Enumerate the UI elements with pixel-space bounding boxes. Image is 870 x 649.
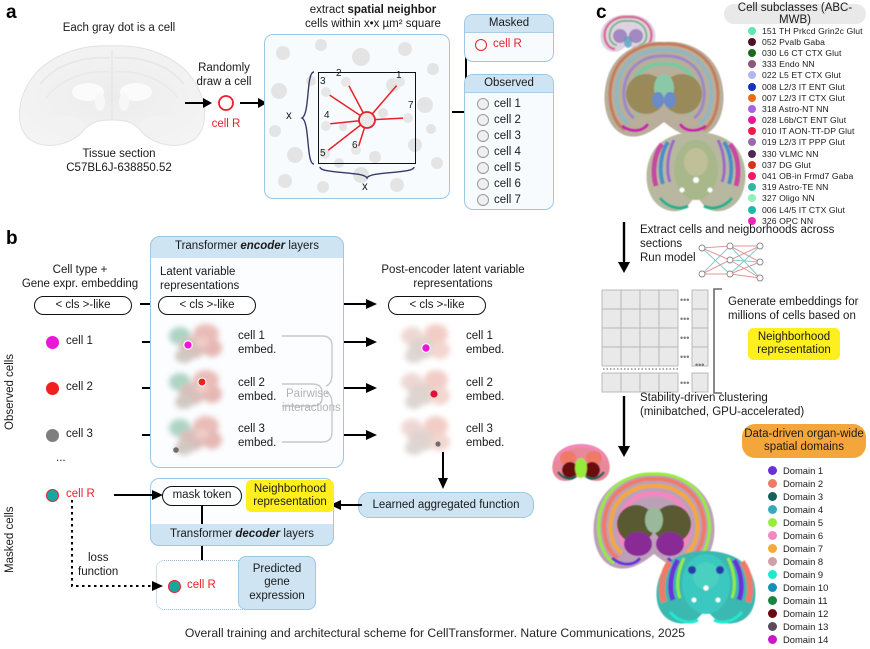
legend-item: 037 DG Glut (748, 159, 868, 170)
tissue-caption-line2: C57BL6J-638850.52 (24, 162, 214, 176)
svg-text:•••: ••• (680, 378, 689, 388)
list-item: cell 2 (477, 112, 553, 128)
observed-cell-label: cell 4 (494, 146, 521, 158)
subclass-label: 030 L6 CT CTX Glut (762, 48, 842, 58)
legend-item: Domain 10 (768, 581, 868, 594)
masked-cell-label: cell R (493, 38, 522, 52)
subclass-label: 318 Astro-NT NN (762, 104, 829, 114)
encoder-header-text: Transformer encoder layers (150, 240, 344, 254)
cell-circle-icon (477, 178, 489, 190)
subclass-label: 037 DG Glut (762, 160, 811, 170)
post-umap-2 (390, 368, 462, 412)
decoder-header-text: Transformer decoder layers (150, 528, 334, 542)
panel-a-tissue-title: Each gray dot is a cell (24, 22, 214, 36)
arrow-to-aggregated-fn (436, 452, 450, 490)
axis-label-x-bottom: x (362, 181, 368, 195)
legend-item: Domain 1 (768, 464, 868, 477)
tissue-caption-line1: Tissue section (24, 148, 214, 162)
legend-item: 030 L6 CT CTX Glut (748, 47, 868, 58)
subclass-label: 151 TH Prkcd Grin2c Glut (762, 26, 863, 36)
legend-item: 327 Oligo NN (748, 193, 868, 204)
list-item: cell 3 (477, 128, 553, 144)
observed-cell-label: cell 3 (494, 130, 521, 142)
subclass-label: 028 L6b/CT ENT Glut (762, 115, 846, 125)
legend-item: Domain 9 (768, 568, 868, 581)
subclass-label: 327 Oligo NN (762, 193, 815, 203)
domain-dot-icon (768, 596, 777, 605)
subclass-dot-icon (748, 49, 756, 57)
input-title-line2: Gene expr. embedding (2, 278, 158, 292)
draw-cell-label-line1: Randomly (186, 62, 262, 76)
brace-horizontal (318, 166, 416, 180)
subclass-label: 010 IT AON-TT-DP Glut (762, 126, 855, 136)
legend-item: 006 L4/5 IT CTX Glut (748, 204, 868, 215)
svg-text:•••: ••• (680, 333, 689, 343)
subclass-legend-title: Cell subclasses (ABC-MWB) (724, 4, 866, 24)
masked-cells-side-label: Masked cells (4, 488, 18, 592)
observed-ellipsis: ... (56, 452, 66, 466)
post-embed-3-line1: cell 3 (466, 423, 493, 437)
observed-cell-list: cell 1 cell 2 cell 3 cell 4 cell 5 cell … (465, 93, 553, 208)
post-encoder-title-line2: representations (348, 278, 558, 292)
subclass-dot-icon (748, 38, 756, 46)
predicted-cell-r-dot-icon (168, 580, 181, 593)
post-embed-1-line2: embed. (466, 344, 504, 358)
arrow-step-extract (617, 222, 631, 274)
domain-dot-icon (768, 466, 777, 475)
subclass-dot-icon (748, 138, 756, 146)
neighborhood-representation-badge-c: Neighborhood representation (748, 328, 840, 360)
neighbor-number-4: 4 (324, 110, 336, 122)
domains-legend-list: Domain 1 Domain 2 Domain 3 Domain 4 Doma… (768, 464, 868, 646)
subclass-dot-icon (748, 105, 756, 113)
latent-title-line1: Latent variable (160, 266, 235, 280)
input-arrows (90, 300, 148, 446)
legend-item: 151 TH Prkcd Grin2c Glut (748, 25, 868, 36)
list-item: cell 4 (477, 144, 553, 160)
subclass-label: 333 Endo NN (762, 59, 815, 69)
legend-item: Domain 12 (768, 607, 868, 620)
pairwise-label-line1: Pairwise (286, 388, 329, 402)
legend-item: Domain 7 (768, 542, 868, 555)
domain-dot-icon (768, 570, 777, 579)
domains-badge-line2: spatial domains (764, 441, 844, 455)
subclass-dot-icon (748, 60, 756, 68)
domain-label: Domain 11 (783, 595, 828, 606)
post-embed-2-line1: cell 2 (466, 377, 493, 391)
predicted-line1: Predicted (253, 563, 302, 577)
legend-item: 010 IT AON-TT-DP Glut (748, 126, 868, 137)
subclass-legend-list: 151 TH Prkcd Grin2c Glut 052 Pvalb Gaba … (748, 25, 868, 226)
neighborhood-badge-line1: Neighborhood (254, 483, 326, 497)
latent-umap-1 (162, 322, 234, 366)
observed-box: Observed cell 1 cell 2 cell 3 cell 4 cel… (464, 74, 554, 210)
list-item: cell 7 (477, 192, 553, 208)
domain-label: Domain 5 (783, 517, 823, 528)
latent-umap-2 (162, 368, 234, 412)
legend-item: 022 L5 ET CTX Glut (748, 70, 868, 81)
observed-cell-label: cell 5 (494, 162, 521, 174)
legend-item: 052 Pvalb Gaba (748, 36, 868, 47)
embeddings-line1: Generate embeddings for (728, 296, 858, 310)
spatial-domains-badge: Data-driven organ-wide spatial domains (742, 424, 866, 458)
neighbor-number-1: 1 (396, 70, 408, 82)
domain-label: Domain 6 (783, 530, 823, 541)
post-umap-1 (390, 322, 462, 366)
cell-circle-icon (477, 146, 489, 158)
domain-label: Domain 3 (783, 491, 823, 502)
arrow-post-cell-1 (344, 335, 378, 349)
subclass-label: 330 VLMC NN (762, 149, 819, 159)
observed-header: Observed (465, 75, 553, 93)
extract-title-bold: spatial neighbor (347, 4, 436, 16)
subclass-label: 319 Astro-TE NN (762, 182, 828, 192)
cell-circle-icon (477, 162, 489, 174)
subclass-dot-icon (748, 150, 756, 158)
domain-label: Domain 12 (783, 608, 828, 619)
subclass-label: 022 L5 ET CTX Glut (762, 70, 841, 80)
arrow-step-clustering (617, 396, 631, 458)
panel-b-letter: b (6, 228, 18, 250)
legend-item: 019 L2/3 IT PPP Glut (748, 137, 868, 148)
loss-function-arrow (66, 500, 166, 594)
cell-circle-icon (477, 194, 489, 206)
subclass-dot-icon (748, 172, 756, 180)
embedding-matrix: •••••• •••••• •••••• (600, 288, 710, 394)
subclass-label: 008 L2/3 IT ENT Glut (762, 82, 845, 92)
arrow-aggregated-to-neighborhood (330, 498, 362, 512)
svg-text:•••: ••• (680, 314, 689, 324)
domain-label: Domain 4 (783, 504, 823, 515)
predicted-gene-expression-box: Predicted gene expression (238, 556, 316, 610)
subclass-dot-icon (748, 71, 756, 79)
arrow-masktoken-down (196, 506, 208, 526)
latent-title-line2: representations (160, 280, 239, 294)
svg-text:•••: ••• (680, 295, 689, 305)
domain-dot-icon (768, 544, 777, 553)
legend-item: Domain 11 (768, 594, 868, 607)
post-embed-1-line1: cell 1 (466, 330, 493, 344)
list-item: cell 5 (477, 160, 553, 176)
neighbor-number-6: 6 (352, 140, 364, 152)
legend-item: 041 OB-in Frmd7 Gaba (748, 170, 868, 181)
subclass-label: 019 L2/3 IT PPP Glut (762, 137, 845, 147)
embeddings-line2: millions of cells based on (728, 310, 856, 324)
subclass-dot-icon (748, 194, 756, 202)
neighbor-number-7: 7 (408, 100, 420, 112)
decoder-header-emphasis: decoder (235, 528, 280, 540)
legend-item: Domain 8 (768, 555, 868, 568)
domains-badge-line1: Data-driven organ-wide (744, 428, 864, 442)
subclass-dot-icon (748, 94, 756, 102)
subclass-dot-icon (748, 116, 756, 124)
input-title-line1: Cell type + (10, 264, 150, 278)
matrix-bracket (712, 288, 724, 394)
draw-cell-label-line2: draw a cell (186, 76, 262, 90)
arrow-post-cell-2 (344, 381, 378, 395)
loss-label-line1: loss (88, 552, 108, 566)
neighborhood-representation-badge: Neighborhood representation (246, 480, 334, 512)
legend-item: Domain 6 (768, 529, 868, 542)
domain-dot-icon (768, 518, 777, 527)
extract-title-line1: extract spatial neighbor (258, 4, 488, 18)
predicted-line2: gene (264, 576, 290, 590)
post-embed-2-line2: embed. (466, 391, 504, 405)
cell-circle-icon (477, 98, 489, 110)
observed-cell-label: cell 7 (494, 194, 521, 206)
domain-label: Domain 2 (783, 478, 823, 489)
masked-cell-row: cell R (465, 33, 553, 52)
latent-umap-3 (162, 414, 234, 458)
masked-header: Masked (465, 15, 553, 33)
latent-embed-3-line2: embed. (238, 437, 276, 451)
post-embed-3-line2: embed. (466, 437, 504, 451)
neural-net-sketch (696, 240, 768, 286)
domain-label: Domain 10 (783, 582, 828, 593)
step-run-model-label: Run model (640, 252, 696, 266)
predicted-cell-r-label: cell R (187, 579, 216, 593)
legend-item: 028 L6b/CT ENT Glut (748, 115, 868, 126)
figure-root: a Each gray dot is a cell Tissue sec (0, 0, 870, 649)
latent-embed-2-line2: embed. (238, 391, 276, 405)
learned-aggregated-function-box: Learned aggregated function (358, 492, 534, 518)
svg-text:•••: ••• (695, 360, 704, 370)
axis-label-x-left: x (286, 110, 292, 124)
subclass-label: 052 Pvalb Gaba (762, 37, 825, 47)
panel-a-cell-r-label: cell R (196, 118, 256, 132)
legend-item: Domain 4 (768, 503, 868, 516)
clustering-line1: Stability-driven clustering (640, 392, 768, 406)
legend-item: Domain 2 (768, 477, 868, 490)
legend-item: 007 L2/3 IT CTX Glut (748, 92, 868, 103)
observed-cells-side-label: Observed cells (4, 332, 18, 452)
legend-item: 330 VLMC NN (748, 148, 868, 159)
latent-embed-1-line1: cell 1 (238, 330, 265, 344)
cls-token-post: < cls >-like (388, 296, 486, 315)
neighborhood-badge-line2: representation (253, 496, 327, 510)
cell-1-dot-icon (46, 336, 59, 349)
predicted-line3: expression (249, 590, 305, 604)
domain-label: Domain 1 (783, 465, 823, 476)
neighbor-number-2: 2 (336, 68, 348, 80)
cell-circle-icon (477, 130, 489, 142)
domain-brain-hindbrain (648, 548, 764, 628)
cell-circle-icon (477, 114, 489, 126)
legend-item: 318 Astro-NT NN (748, 103, 868, 114)
subclass-dot-icon (748, 183, 756, 191)
domain-dot-icon (768, 479, 777, 488)
pairwise-label-line2: interactions (282, 402, 341, 416)
domain-label: Domain 9 (783, 569, 823, 580)
draw-cell-arrows (184, 92, 268, 114)
observed-cell-label: cell 1 (494, 98, 521, 110)
post-encoder-title-line1: Post-encoder latent variable (348, 264, 558, 278)
observed-cell-label: cell 6 (494, 178, 521, 190)
cell-2-dot-icon (46, 382, 59, 395)
arrow-post-cls (344, 297, 378, 311)
cell-3-label: cell 3 (66, 428, 93, 442)
neighborhood-badge-c-line1: Neighborhood (758, 331, 830, 345)
legend-item: 319 Astro-TE NN (748, 182, 868, 193)
svg-text:•••: ••• (680, 352, 689, 362)
domain-dot-icon (768, 557, 777, 566)
figure-caption: Overall training and architectural schem… (0, 626, 870, 640)
predicted-cell-r-row: cell R (168, 578, 248, 594)
brain-section-hindbrain (640, 128, 752, 218)
subclass-dot-icon (748, 127, 756, 135)
domain-label: Domain 7 (783, 543, 823, 554)
encoder-header-emphasis: encoder (240, 240, 285, 252)
neighbor-number-3: 3 (320, 76, 332, 88)
cell-1-label: cell 1 (66, 335, 93, 349)
neighbor-number-5: 5 (320, 148, 332, 160)
list-item: cell 1 (477, 96, 553, 112)
subclass-label: 007 L2/3 IT CTX Glut (762, 93, 845, 103)
panel-a-letter: a (6, 2, 17, 24)
masked-box: Masked cell R (464, 14, 554, 62)
brace-vertical (300, 70, 316, 166)
domain-dot-icon (768, 505, 777, 514)
legend-item: 333 Endo NN (748, 59, 868, 70)
legend-item: Domain 3 (768, 490, 868, 503)
subclass-dot-icon (748, 161, 756, 169)
latent-embed-2-line1: cell 2 (238, 377, 265, 391)
domain-dot-icon (768, 583, 777, 592)
neighborhood-badge-c-line2: representation (757, 344, 831, 358)
observed-cell-label: cell 2 (494, 114, 521, 126)
domain-dot-icon (768, 609, 777, 618)
cell-r-ring-icon (475, 39, 487, 51)
loss-label-line2: function (78, 566, 118, 580)
cell-3-dot-icon (46, 429, 59, 442)
latent-embed-3-line1: cell 3 (238, 423, 265, 437)
subclass-dot-icon (748, 27, 756, 35)
subclass-dot-icon (748, 83, 756, 91)
arrow-post-cell-3 (344, 428, 378, 442)
extract-title-pre: extract (310, 4, 348, 16)
domain-dot-icon (768, 531, 777, 540)
cell-2-label: cell 2 (66, 381, 93, 395)
list-item: cell 6 (477, 176, 553, 192)
legend-item: Domain 5 (768, 516, 868, 529)
subclass-label: 041 OB-in Frmd7 Gaba (762, 171, 853, 181)
legend-item: 008 L2/3 IT ENT Glut (748, 81, 868, 92)
clustering-line2: (minibatched, GPU-accelerated) (640, 406, 804, 420)
cell-r-dot-icon (46, 489, 59, 502)
mask-token-pill: mask token (162, 486, 242, 506)
domain-dot-icon (768, 492, 777, 501)
subclass-dot-icon (748, 206, 756, 214)
latent-embed-1-line2: embed. (238, 344, 276, 358)
cls-token-latent: < cls >-like (158, 296, 256, 315)
domain-label: Domain 8 (783, 556, 823, 567)
post-umap-3 (390, 414, 462, 458)
subclass-label: 006 L4/5 IT CTX Glut (762, 205, 845, 215)
